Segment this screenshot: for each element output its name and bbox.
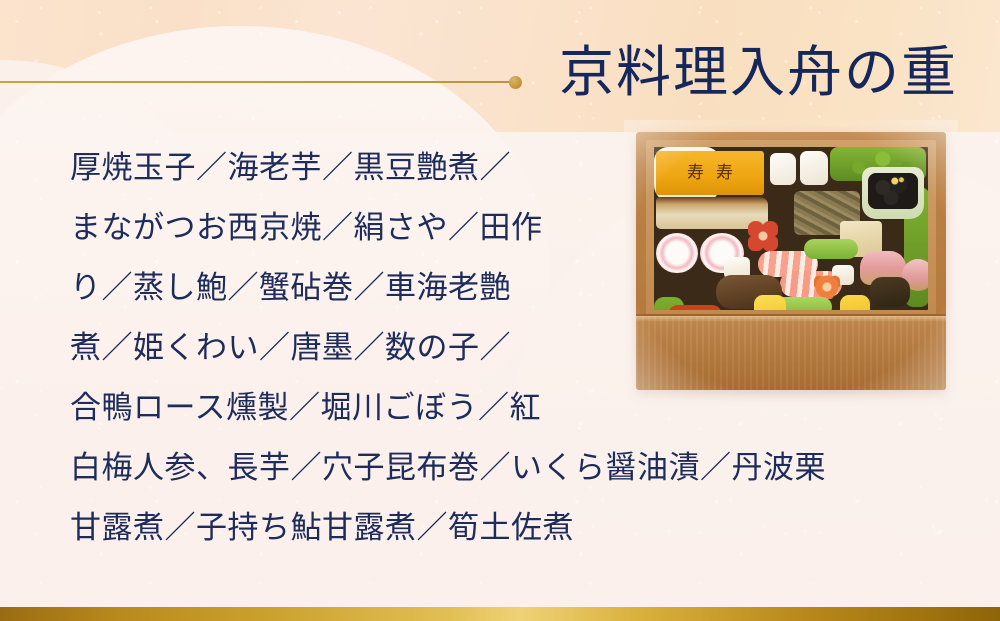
osechi-box-photo: 寿 寿 — [630, 126, 952, 396]
chestnut-food — [840, 295, 870, 310]
kotobuki-character: 寿 — [716, 165, 733, 182]
carrot-flower-food — [814, 275, 840, 299]
kelp-roll-food — [870, 277, 910, 307]
yam-food — [800, 151, 828, 185]
kamaboko-food — [656, 233, 698, 273]
yam-food — [770, 153, 796, 185]
gold-leaf-garnish — [886, 175, 908, 187]
ingredient-line: 白梅人参、長芋／穴子昆布巻／いくら醤油漬／丹波栗 — [70, 438, 950, 498]
kotobuki-character: 寿 — [687, 165, 704, 182]
tamagoyaki-food: 寿 寿 — [656, 151, 764, 195]
bottom-gold-bar — [0, 607, 1000, 621]
box-interior: 寿 寿 — [654, 147, 928, 310]
page-title: 京料理入舟の重 — [559, 44, 958, 102]
gold-dot-marker — [509, 76, 522, 89]
salmon-roe-food — [668, 305, 722, 310]
osechi-product-banner: 京料理入舟の重 厚焼玉子／海老芋／黒豆艶煮／ まながつお西京焼／絹さや／田作 り… — [0, 0, 1000, 621]
flower-garnish — [748, 221, 778, 251]
chestnut-food — [754, 295, 786, 310]
wooden-box: 寿 寿 — [636, 132, 946, 390]
gold-divider-line — [0, 81, 516, 83]
snow-pea-food — [804, 239, 858, 259]
box-front-panel — [636, 314, 946, 390]
ingredient-line: 甘露煮／子持ち鮎甘露煮／筍土佐煮 — [70, 498, 950, 558]
